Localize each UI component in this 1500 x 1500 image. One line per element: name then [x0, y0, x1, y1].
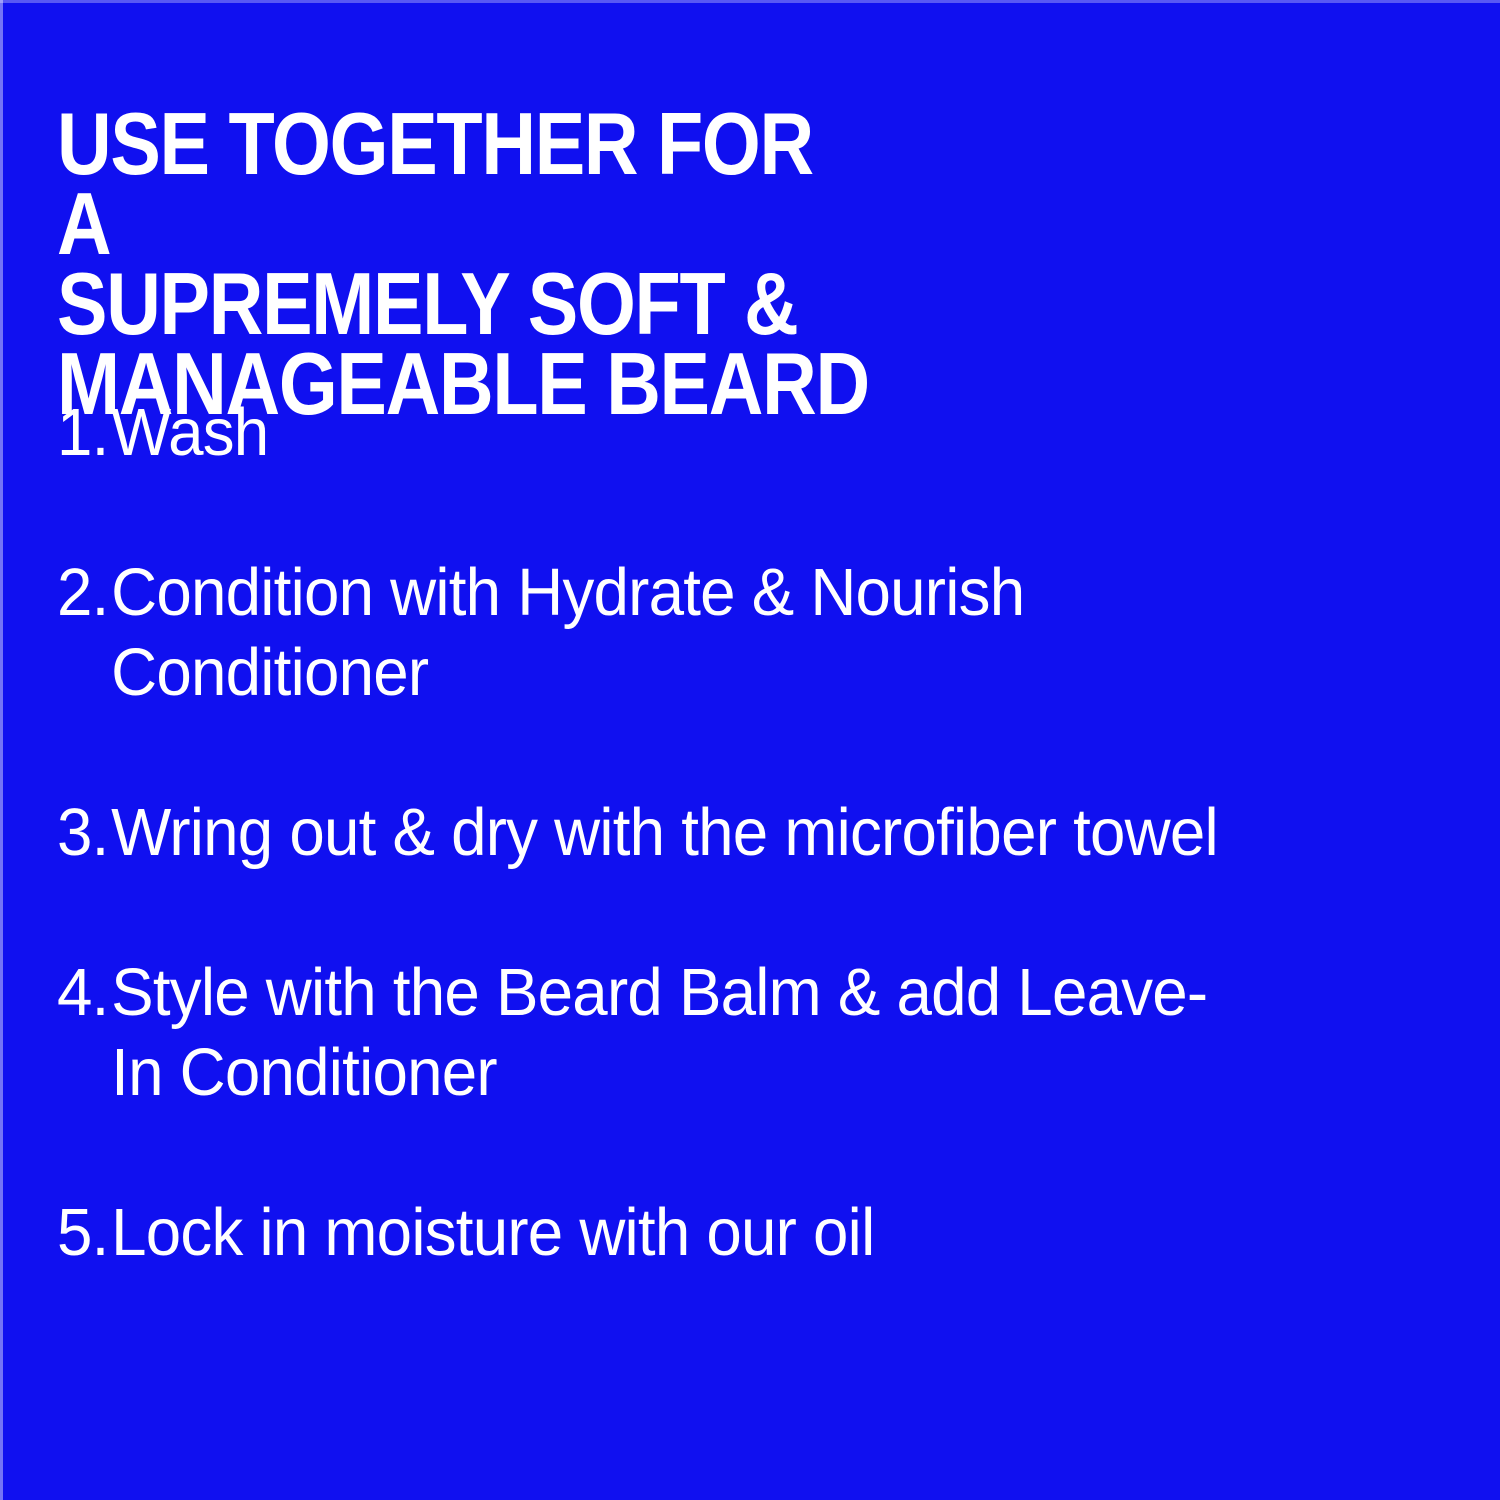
step-text: Lock in moisture with our oil [111, 1193, 1254, 1273]
left-edge-highlight [0, 0, 3, 1500]
list-item: 3. Wring out & dry with the microfiber t… [57, 793, 1254, 873]
step-number: 1. [57, 393, 109, 473]
step-list: 1. Wash 2. Condition with Hydrate & Nour… [57, 393, 1317, 1273]
list-item: 4. Style with the Beard Balm & add Leave… [57, 953, 1254, 1113]
instructions-poster: USE TOGETHER FOR A SUPREMELY SOFT & MANA… [0, 0, 1500, 1500]
top-edge-highlight [0, 0, 1500, 3]
list-item: 5. Lock in moisture with our oil [57, 1193, 1254, 1273]
step-text: Style with the Beard Balm & add Leave-In… [111, 953, 1254, 1113]
step-text: Condition with Hydrate & Nourish Conditi… [111, 553, 1254, 713]
step-number: 5. [57, 1193, 109, 1273]
page-title: USE TOGETHER FOR A SUPREMELY SOFT & MANA… [57, 104, 883, 424]
step-number: 4. [57, 953, 109, 1033]
list-item: 1. Wash [57, 393, 1254, 473]
step-number: 3. [57, 793, 109, 873]
step-number: 2. [57, 553, 109, 633]
step-text: Wash [111, 393, 1254, 473]
list-item: 2. Condition with Hydrate & Nourish Cond… [57, 553, 1254, 713]
step-text: Wring out & dry with the microfiber towe… [111, 793, 1254, 873]
